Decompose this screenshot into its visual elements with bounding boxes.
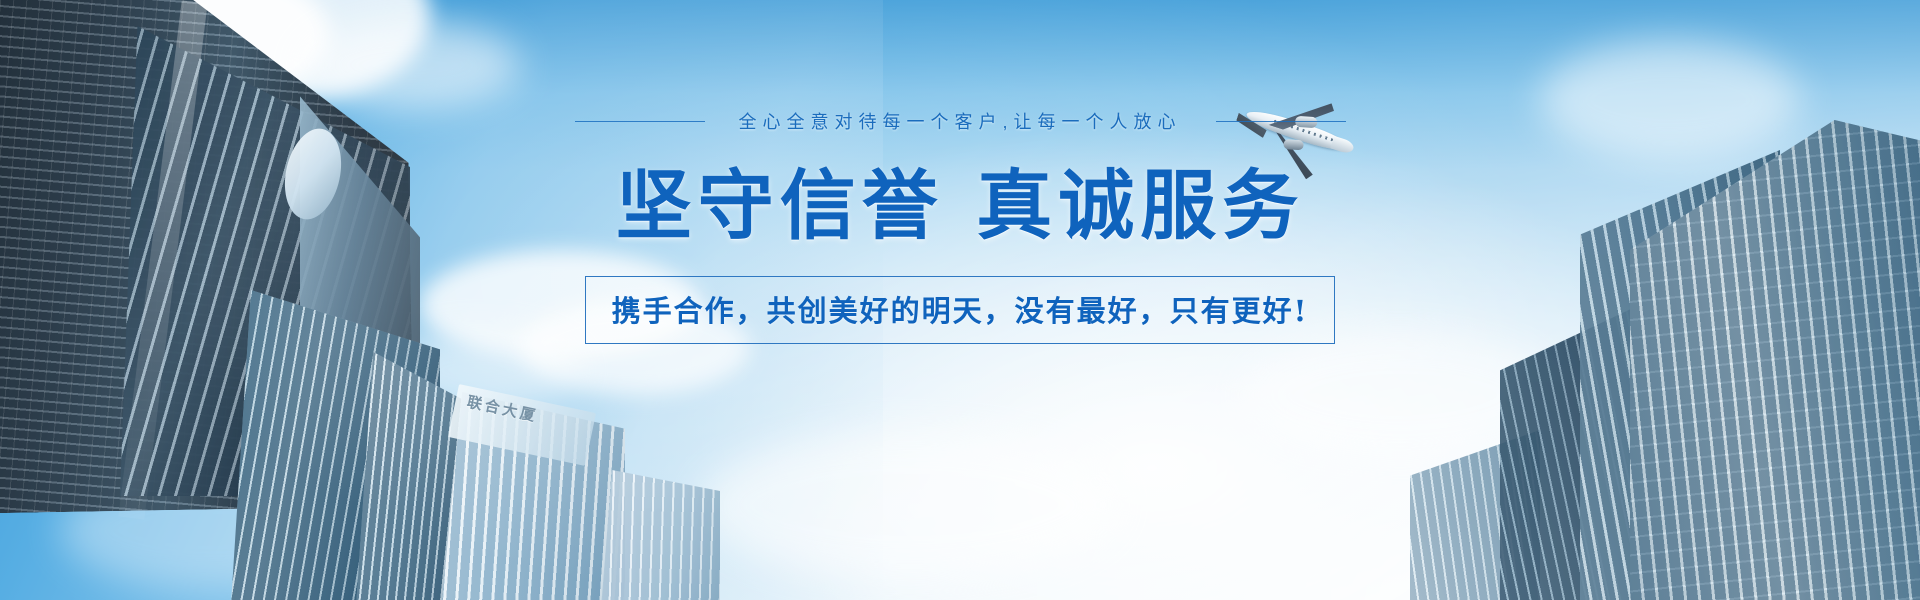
banner-text-block: 全心全意对待每一个客户,让每一个人放心 坚守信誉 真诚服务 携手合作，共创美好的… [0, 0, 1920, 344]
rule-line-right [1216, 121, 1346, 122]
hero-banner: 联合大厦 全心全意对待每一个客户,让每一个人放心 坚守信誉 真诚服务 携手合作，… [0, 0, 1920, 600]
page-title: 坚守信誉 真诚服务 [0, 168, 1920, 244]
subtitle-text: 携手合作，共创美好的明天，没有最好，只有更好! [612, 294, 1309, 328]
subtitle-box: 携手合作，共创美好的明天，没有最好，只有更好! [585, 276, 1336, 344]
cloud-icon [700, 430, 1120, 580]
rule-line-left [575, 121, 705, 122]
eyebrow-text: 全心全意对待每一个客户,让每一个人放心 [739, 108, 1182, 134]
eyebrow-row: 全心全意对待每一个客户,让每一个人放心 [0, 108, 1920, 134]
skyscraper-icon [600, 470, 720, 600]
